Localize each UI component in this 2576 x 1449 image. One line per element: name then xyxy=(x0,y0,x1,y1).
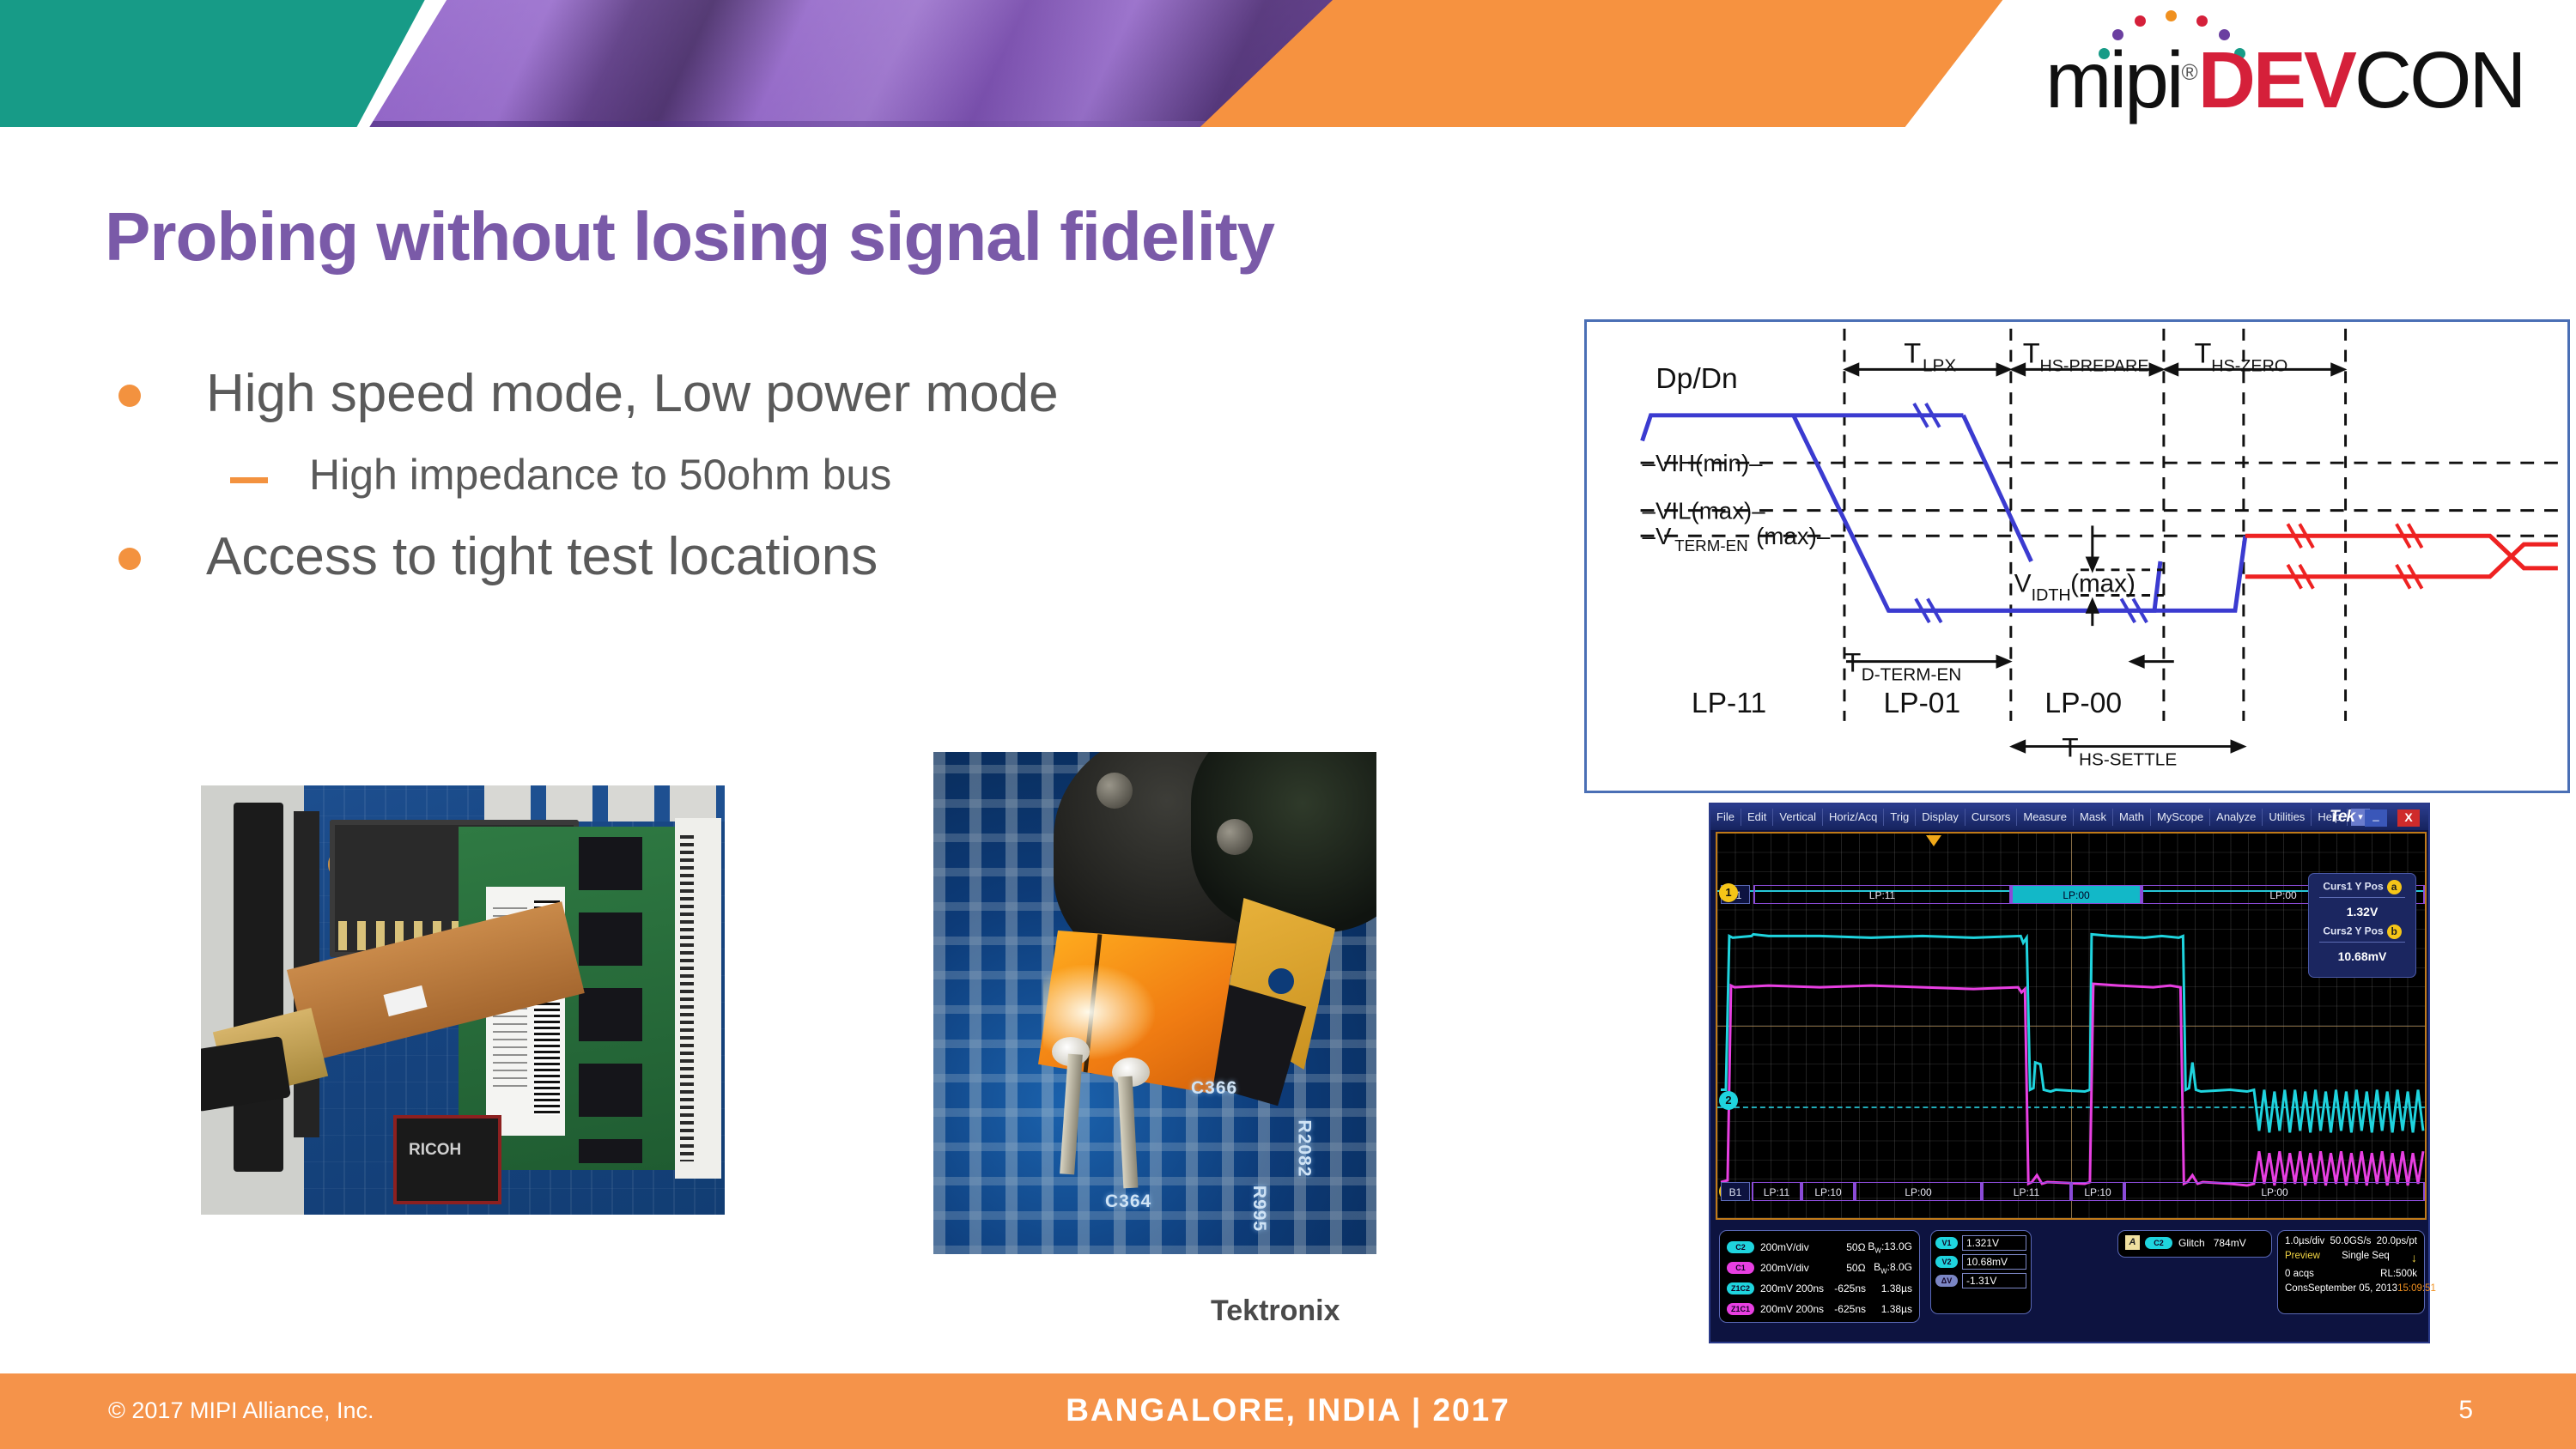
logo-con-text: CON xyxy=(2354,35,2524,124)
status-arrow-icon: ↓ xyxy=(2411,1251,2417,1264)
channel-marker-1[interactable]: 1 xyxy=(1719,883,1738,902)
menu-item-horizacq[interactable]: Horiz/Acq xyxy=(1823,809,1884,826)
timing-label-ths-prepare: T xyxy=(2023,336,2040,368)
status-record-length: RL:500k xyxy=(2380,1269,2417,1279)
timing-label-vidth: V xyxy=(2014,570,2032,598)
channel-row-c1[interactable]: C1 200mV/div 50Ω BW:8.0G xyxy=(1727,1258,1912,1278)
silkscreen-r995: R995 xyxy=(1249,1185,1269,1232)
menu-item-edit[interactable]: Edit xyxy=(1741,809,1773,826)
cursor1-badge: a xyxy=(2387,880,2402,894)
menu-item-mask[interactable]: Mask xyxy=(2074,809,2113,826)
status-acqs: 0 acqs xyxy=(2285,1269,2314,1279)
channel-row-z1c1[interactable]: Z1C1 200mV 200ns -625ns 1.38µs xyxy=(1727,1299,1912,1319)
decode-badge-b1: B1 xyxy=(1721,1182,1750,1201)
menu-item-math[interactable]: Math xyxy=(2113,809,2151,826)
zoom-offset: -625ns xyxy=(1824,1303,1866,1315)
page-number: 5 xyxy=(2458,1396,2473,1425)
status-row-timebase: 1.0µs/div 50.0GS/s 20.0ps/pt xyxy=(2285,1236,2417,1246)
decode-segment: LP:11 xyxy=(1752,1182,1801,1201)
ricoh-ic-marking: RICOH xyxy=(409,1141,461,1160)
decode-row-bottom: B1 LP:11 LP:10 LP:00 LP:11 LP:10 LP:00 xyxy=(1719,1182,2427,1201)
channel-row-c2[interactable]: C2 200mV/div 50Ω BW:13.0G xyxy=(1727,1237,1912,1258)
svg-text:(max)–: (max)– xyxy=(1756,523,1831,549)
footer-event-title: BANGALORE, INDIA | 2017 xyxy=(0,1392,2576,1428)
scope-status-area: C2 200mV/div 50Ω BW:13.0G C1 200mV/div 5… xyxy=(1716,1227,2427,1337)
status-row-datetime: Cons September 05, 2013 15:09:51 xyxy=(2285,1283,2417,1294)
cursor1-value: 1.32V xyxy=(2309,900,2415,925)
zoom-scale: 200mV 200ns xyxy=(1760,1282,1824,1294)
timing-label-vtermen: –V xyxy=(1643,523,1672,549)
decode-segment: LP:00 xyxy=(2124,1182,2425,1201)
measurement-panel[interactable]: V1 1.321V V2 10.68mV ΔV -1.31V xyxy=(1930,1230,2032,1314)
zoom-span: 1.38µs xyxy=(1866,1282,1912,1294)
measurement-value-dv: -1.31V xyxy=(1962,1273,2026,1288)
dphy-timing-diagram: Dp/Dn T LPX T HS-PREPARE T HS-ZERO –VIH(… xyxy=(1584,319,2570,793)
slide-footer: © 2017 MIPI Alliance, Inc. BANGALORE, IN… xyxy=(0,1373,2576,1449)
logo-mipi-text: mipi xyxy=(2045,35,2182,124)
svg-text:TERM-EN: TERM-EN xyxy=(1674,537,1748,555)
channel-pill-z1c2: Z1C2 xyxy=(1727,1282,1754,1294)
bullet-text-3: Access to tight test locations xyxy=(206,527,878,586)
channel-scale: 200mV/div xyxy=(1760,1241,1823,1253)
minimize-button[interactable]: _ xyxy=(2365,809,2387,827)
trigger-panel[interactable]: A C2 Glitch 784mV xyxy=(2117,1230,2272,1258)
logo-wordmark: mipi®DEVCON xyxy=(2045,31,2526,121)
status-cons-label: Cons xyxy=(2285,1283,2308,1294)
status-time: 15:09:51 xyxy=(2397,1283,2436,1294)
menu-item-measure[interactable]: Measure xyxy=(2017,809,2074,826)
menu-item-analyze[interactable]: Analyze xyxy=(2210,809,2263,826)
bullet-text-1: High speed mode, Low power mode xyxy=(206,364,1059,423)
header-band-teal xyxy=(0,0,429,127)
channel-scale: 200mV/div xyxy=(1760,1262,1823,1274)
timing-label-td-term-en: T xyxy=(1844,647,1861,678)
channel-row-z1c2[interactable]: Z1C2 200mV 200ns -625ns 1.38µs xyxy=(1727,1278,1912,1299)
channel-marker-2[interactable]: 2 xyxy=(1719,1091,1738,1110)
menu-item-vertical[interactable]: Vertical xyxy=(1773,809,1823,826)
svg-text:HS-ZERO: HS-ZERO xyxy=(2211,356,2287,375)
measurement-pill-v2: V2 xyxy=(1935,1256,1958,1268)
photo-motherboard-probe: 84107 RICOH xyxy=(201,785,725,1215)
chassis-bracket xyxy=(234,803,283,1172)
svg-text:LPX: LPX xyxy=(1923,355,1956,375)
logo-registered-icon: ® xyxy=(2182,59,2198,85)
channel-bandwidth: BW:13.0G xyxy=(1866,1240,1912,1254)
bullet-item-3: Access to tight test locations xyxy=(105,524,1650,591)
cursor2-badge: b xyxy=(2387,925,2402,939)
cursor-readout-panel[interactable]: Curs1 Y Posa 1.32V Curs2 Y Posb 10.68mV xyxy=(2308,873,2416,978)
memory-socket xyxy=(675,818,721,1179)
close-button[interactable]: X xyxy=(2397,809,2420,827)
logo-dev-text: DEV xyxy=(2198,35,2354,124)
waveform-graticule[interactable]: B1 LP:11 LP:00 LP:00 1 2 b B1 LP:11 LP:1… xyxy=(1716,832,2427,1220)
cursor2-value: 10.68mV xyxy=(2309,945,2415,969)
trigger-type: Glitch xyxy=(2178,1237,2205,1249)
mipi-devcon-logo: mipi®DEVCON xyxy=(2045,9,2526,112)
measurement-value-v2: 10.68mV xyxy=(1962,1254,2026,1270)
channel-bandwidth: BW:8.0G xyxy=(1866,1261,1912,1275)
svg-text:IDTH: IDTH xyxy=(2032,585,2071,604)
timing-state-lp01: LP-01 xyxy=(1883,688,1960,719)
photo-probe-tip-closeup: C366 C364 R995 R2082 xyxy=(933,752,1376,1254)
measurement-value-v1: 1.321V xyxy=(1962,1235,2026,1251)
timing-label-ths-settle: T xyxy=(2062,731,2078,762)
decode-segment: LP:00 xyxy=(1855,1182,1982,1201)
probe-screw-icon xyxy=(1217,819,1253,855)
menu-item-trig[interactable]: Trig xyxy=(1884,809,1916,826)
dram-chips xyxy=(579,837,642,1163)
status-resolution: 20.0ps/pt xyxy=(2377,1236,2417,1246)
timing-diagram-svg: Dp/Dn T LPX T HS-PREPARE T HS-ZERO –VIH(… xyxy=(1587,322,2567,791)
zoom-span: 1.38µs xyxy=(1866,1303,1912,1315)
status-date: September 05, 2013 xyxy=(2308,1283,2397,1294)
decode-segment: LP:10 xyxy=(1801,1182,1855,1201)
channel-pill-c2: C2 xyxy=(1727,1241,1754,1253)
status-row-mode: Preview Single Seq ↓ xyxy=(2285,1251,2417,1264)
zoom-scale: 200mV 200ns xyxy=(1760,1303,1824,1315)
trigger-level: 784mV xyxy=(2214,1237,2246,1249)
measurement-pill-dv: ΔV xyxy=(1935,1275,1958,1287)
svg-text:HS-PREPARE: HS-PREPARE xyxy=(2039,356,2148,375)
page-title: Probing without losing signal fidelity xyxy=(105,196,1994,278)
menu-item-utilities[interactable]: Utilities xyxy=(2263,809,2312,826)
status-acq-mode: Single Seq xyxy=(2342,1251,2390,1264)
silkscreen-c366: C366 xyxy=(1191,1078,1237,1099)
bullet-list: High speed mode, Low power mode High imp… xyxy=(105,361,1650,609)
scope-menu-bar[interactable]: File Edit Vertical Horiz/Acq Trig Displa… xyxy=(1710,804,2428,830)
bullet-text-2: High impedance to 50ohm bus xyxy=(309,451,891,499)
acquisition-status-panel[interactable]: 1.0µs/div 50.0GS/s 20.0ps/pt Preview Sin… xyxy=(2277,1230,2425,1314)
menu-item-myscope[interactable]: MyScope xyxy=(2151,809,2210,826)
svg-text:HS-SETTLE: HS-SETTLE xyxy=(2079,749,2177,769)
silkscreen-r2082: R2082 xyxy=(1293,1120,1314,1178)
oscilloscope-screenshot: File Edit Vertical Horiz/Acq Trig Displa… xyxy=(1709,803,2430,1343)
timing-label-tlpx: T xyxy=(1904,336,1921,368)
measurement-row-v2[interactable]: V2 10.68mV xyxy=(1935,1254,2026,1270)
tek-brand-logo: Tek xyxy=(2330,808,2354,827)
cursor2-label: Curs2 Y Posb xyxy=(2309,925,2415,939)
timing-label-dpdn: Dp/Dn xyxy=(1656,363,1737,395)
bullet-item-2: High impedance to 50ohm bus xyxy=(105,446,1650,503)
status-sample-rate: 50.0GS/s xyxy=(2330,1236,2371,1246)
bullet-dot-icon xyxy=(118,385,141,407)
channel-impedance: 50Ω xyxy=(1823,1262,1865,1274)
menu-item-file[interactable]: File xyxy=(1710,809,1741,826)
zoom-offset: -625ns xyxy=(1824,1282,1866,1294)
timing-label-ths-zero: T xyxy=(2195,336,2212,368)
svg-text:(max): (max) xyxy=(2070,570,2136,598)
channel-pill-z1c1: Z1C1 xyxy=(1727,1303,1754,1315)
measurement-pill-v1: V1 xyxy=(1935,1237,1958,1249)
measurement-row-dv[interactable]: ΔV -1.31V xyxy=(1935,1273,2026,1288)
status-row-acqs: 0 acqs RL:500k xyxy=(2285,1269,2417,1279)
status-timebase: 1.0µs/div xyxy=(2285,1236,2324,1246)
bullet-dot-icon xyxy=(118,548,141,570)
bullet-dash-icon xyxy=(230,477,268,483)
menu-item-cursors[interactable]: Cursors xyxy=(1965,809,2018,826)
channel-pill-c1: C1 xyxy=(1727,1262,1754,1274)
top-connectors xyxy=(484,785,725,822)
tektronix-caption: Tektronix xyxy=(1211,1294,1340,1328)
timing-state-lp11: LP-11 xyxy=(1692,688,1766,719)
ricoh-ic: RICOH xyxy=(397,1119,498,1201)
status-state: Preview xyxy=(2285,1251,2320,1264)
bullet-item-1: High speed mode, Low power mode xyxy=(105,361,1650,427)
probe-screw-icon xyxy=(1097,773,1133,809)
cursor1-label: Curs1 Y Posa xyxy=(2309,880,2415,894)
trigger-badge-a: A xyxy=(2125,1235,2140,1250)
trigger-source-pill: C2 xyxy=(2145,1237,2172,1249)
decode-segment: LP:11 xyxy=(1982,1182,2071,1201)
timing-state-lp00: LP-00 xyxy=(2044,688,2122,719)
menu-item-display[interactable]: Display xyxy=(1916,809,1965,826)
timing-label-vilmax: –VIL(max)– xyxy=(1643,497,1766,524)
silkscreen-c364: C364 xyxy=(1105,1191,1151,1212)
decode-segment: LP:10 xyxy=(2071,1182,2124,1201)
svg-text:D-TERM-EN: D-TERM-EN xyxy=(1862,664,1962,684)
measurement-row-v1[interactable]: V1 1.321V xyxy=(1935,1235,2026,1251)
channel-settings-panel[interactable]: C2 200mV/div 50Ω BW:13.0G C1 200mV/div 5… xyxy=(1719,1230,1920,1323)
trigger-row[interactable]: A C2 Glitch 784mV xyxy=(2125,1235,2264,1250)
timing-label-vihmin: –VIH(min)– xyxy=(1643,450,1764,476)
channel-impedance: 50Ω xyxy=(1823,1241,1865,1253)
